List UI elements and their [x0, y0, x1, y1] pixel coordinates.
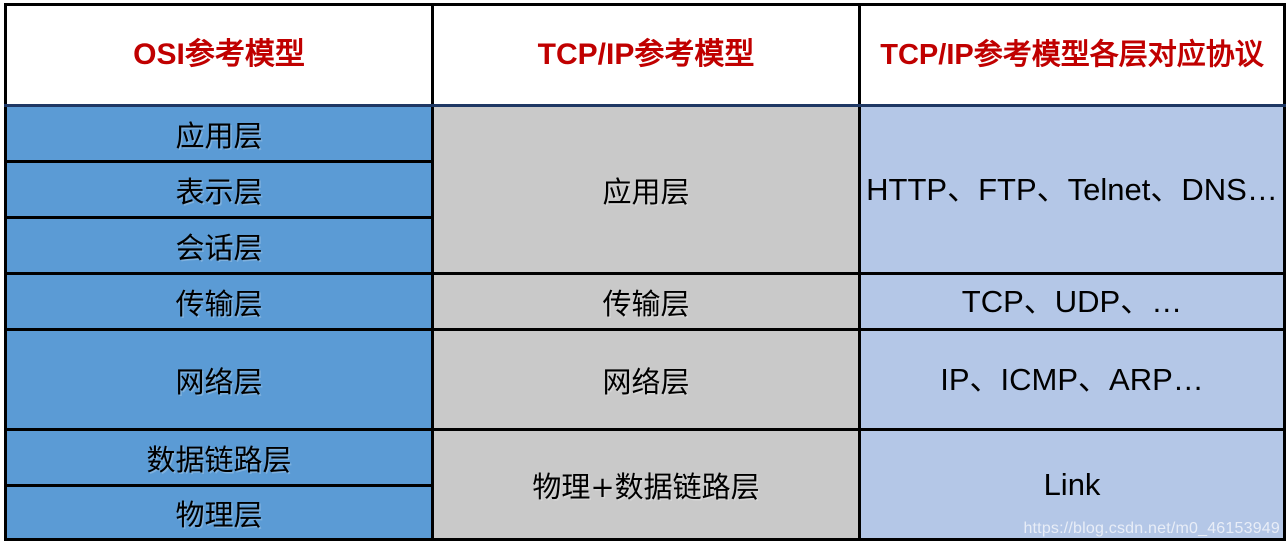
osi-layer-network-label: 网络层: [175, 365, 262, 399]
tcpip-layer-transport-label: 传输层: [602, 287, 689, 321]
osi-layer-transport-label: 传输层: [175, 287, 262, 321]
osi-layer-physical-label: 物理层: [175, 498, 262, 532]
tcpip-layer-physical-datalink: 物理+数据链路层: [433, 430, 860, 540]
osi-layer-application-label: 应用层: [175, 119, 262, 153]
protocols-link: Link: [860, 430, 1285, 540]
table-row: 传输层 传输层 TCP、UDP、…: [6, 274, 1285, 330]
osi-layer-session: 会话层: [6, 218, 433, 274]
tcpip-layer-application-label: 应用层: [602, 175, 689, 209]
osi-layer-session-label: 会话层: [175, 231, 262, 265]
tcpip-layer-application: 应用层: [433, 106, 860, 274]
osi-layer-presentation-label: 表示层: [175, 175, 262, 209]
osi-layer-data-link: 数据链路层: [6, 430, 433, 486]
table-row: 网络层 网络层 IP、ICMP、ARP…: [6, 330, 1285, 430]
protocols-application-label: HTTP、FTP、Telnet、DNS…: [866, 172, 1278, 207]
osi-tcpip-comparison-table: OSI参考模型 TCP/IP参考模型 TCP/IP参考模型各层对应协议 应用层 …: [4, 3, 1286, 541]
column-header-protocols: TCP/IP参考模型各层对应协议: [860, 5, 1285, 106]
osi-layer-presentation: 表示层: [6, 162, 433, 218]
osi-layer-application: 应用层: [6, 106, 433, 162]
protocols-link-label: Link: [1044, 467, 1101, 502]
protocols-network: IP、ICMP、ARP…: [860, 330, 1285, 430]
osi-layer-network: 网络层: [6, 330, 433, 430]
table-header-row: OSI参考模型 TCP/IP参考模型 TCP/IP参考模型各层对应协议: [6, 5, 1285, 106]
protocols-network-label: IP、ICMP、ARP…: [940, 362, 1204, 397]
protocols-transport-label: TCP、UDP、…: [962, 284, 1182, 319]
osi-layer-transport: 传输层: [6, 274, 433, 330]
table-row: 数据链路层 物理+数据链路层 Link: [6, 430, 1285, 486]
column-header-osi: OSI参考模型: [6, 5, 433, 106]
column-header-osi-label: OSI参考模型: [7, 38, 431, 72]
osi-layer-data-link-label: 数据链路层: [146, 443, 291, 477]
protocols-transport: TCP、UDP、…: [860, 274, 1285, 330]
table-row: 应用层 应用层 HTTP、FTP、Telnet、DNS…: [6, 106, 1285, 162]
tcpip-layer-transport: 传输层: [433, 274, 860, 330]
column-header-tcpip-label: TCP/IP参考模型: [434, 38, 858, 72]
tcpip-layer-physical-datalink-label: 物理+数据链路层: [532, 470, 759, 504]
column-header-protocols-label: TCP/IP参考模型各层对应协议: [861, 39, 1283, 71]
diagram-canvas: OSI参考模型 TCP/IP参考模型 TCP/IP参考模型各层对应协议 应用层 …: [0, 0, 1288, 544]
osi-layer-physical: 物理层: [6, 486, 433, 540]
protocols-application: HTTP、FTP、Telnet、DNS…: [860, 106, 1285, 274]
tcpip-layer-network-label: 网络层: [602, 365, 689, 399]
tcpip-layer-network: 网络层: [433, 330, 860, 430]
column-header-tcpip: TCP/IP参考模型: [433, 5, 860, 106]
